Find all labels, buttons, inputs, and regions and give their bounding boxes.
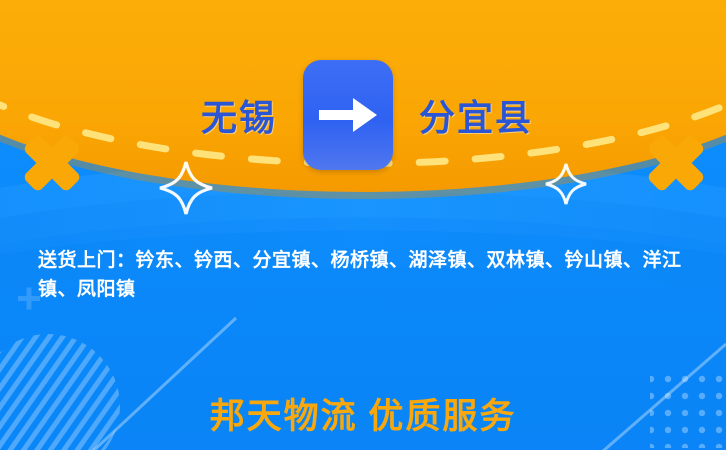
origin-city-label: 无锡 bbox=[143, 89, 303, 141]
destination-city-label: 分宜县 bbox=[393, 89, 583, 141]
arrow-right-icon bbox=[317, 95, 379, 135]
delivery-coverage-note: 送货上门：钤东、钤西、分宜镇、杨桥镇、湖泽镇、双林镇、钤山镇、洋江 镇、凤阳镇 bbox=[38, 246, 698, 305]
delivery-note-line-2: 镇、凤阳镇 bbox=[38, 275, 698, 304]
route-header: 无锡 分宜县 bbox=[0, 60, 726, 170]
logistics-route-banner: 无锡 分宜县 送货上门：钤东、钤西、分宜镇、杨桥镇、湖泽镇、双林镇、钤山镇、洋江… bbox=[0, 0, 726, 450]
route-arrow-badge bbox=[303, 60, 393, 170]
company-slogan: 邦天物流 优质服务 bbox=[0, 388, 726, 439]
delivery-note-line-1: 送货上门：钤东、钤西、分宜镇、杨桥镇、湖泽镇、双林镇、钤山镇、洋江 bbox=[38, 246, 698, 275]
